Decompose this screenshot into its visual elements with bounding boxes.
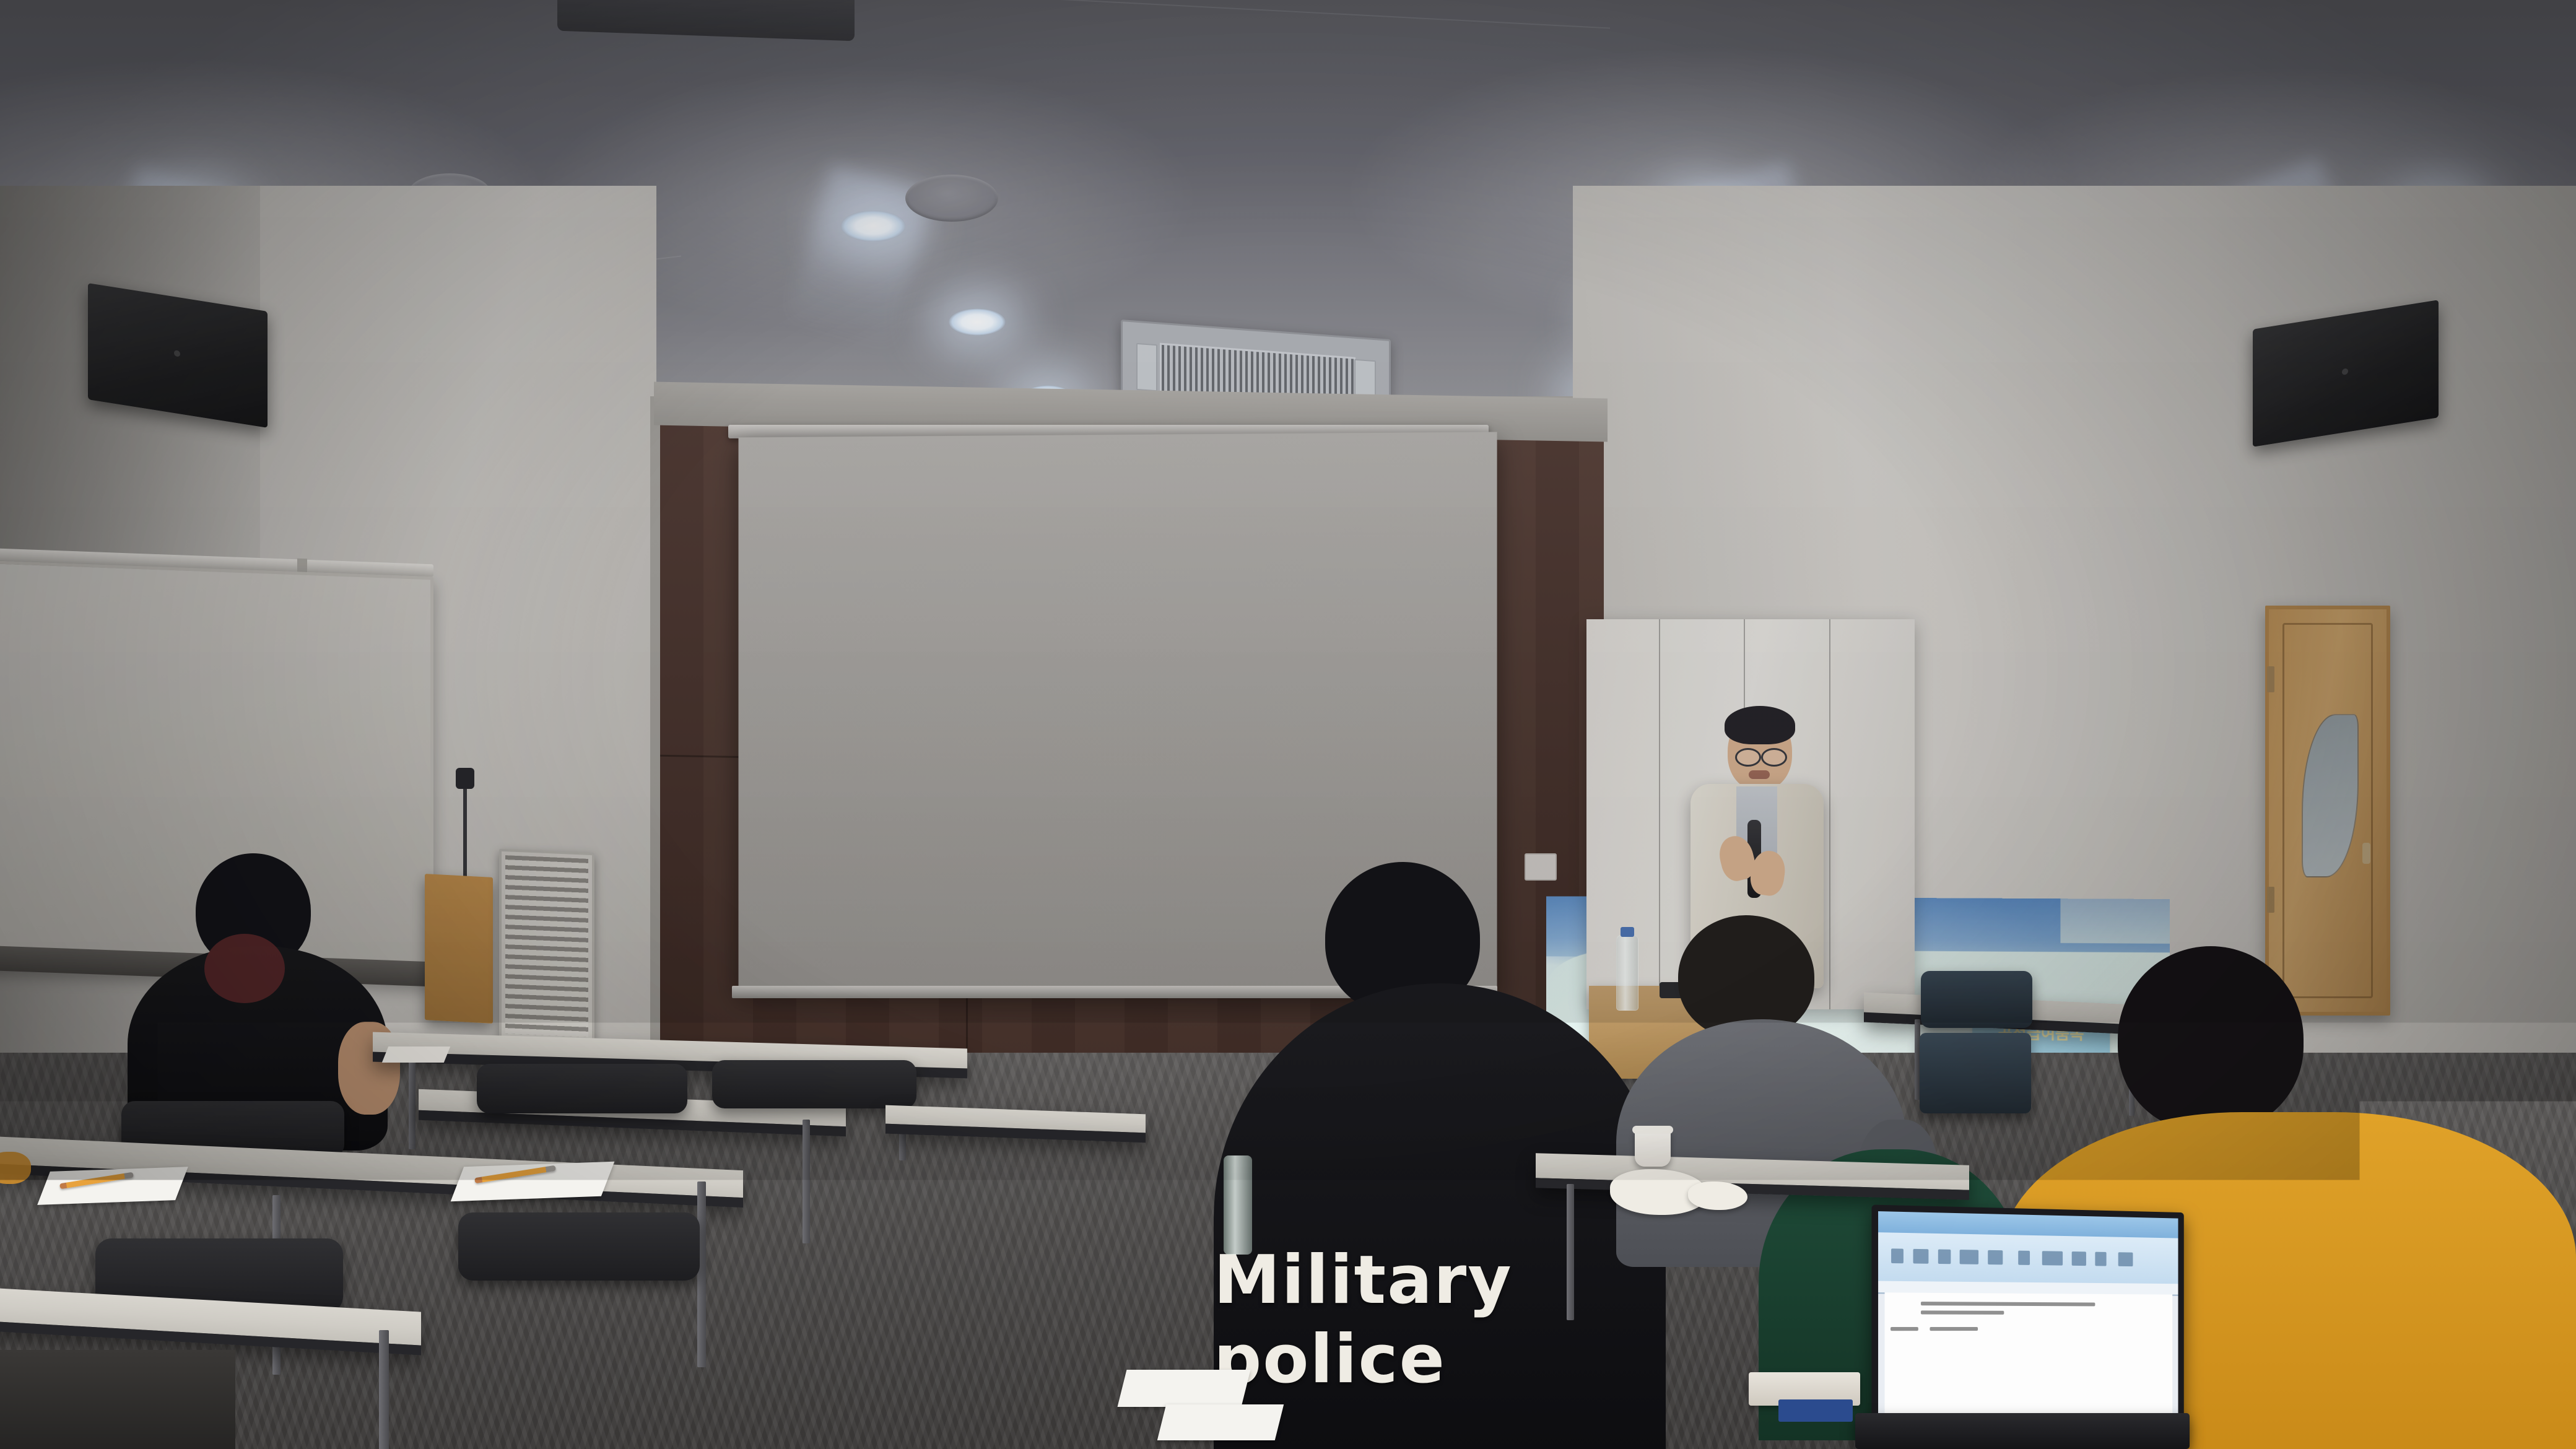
attendee-orange-head — [2118, 946, 2304, 1132]
ceiling-downlight — [949, 308, 1006, 336]
paper-cup[interactable] — [1635, 1129, 1671, 1167]
toolbar-icon — [2018, 1251, 2030, 1265]
presenter-glasses — [1735, 748, 1761, 767]
presenter-hair — [1725, 706, 1795, 744]
toolbar-icon — [1891, 1249, 1904, 1264]
laptop[interactable] — [1871, 1204, 2183, 1449]
toolbar-icon — [1913, 1249, 1928, 1264]
wall-vent-panel — [499, 849, 594, 1044]
laptop-keyboard-base[interactable] — [1855, 1413, 2190, 1449]
chair-row-1-mid[interactable] — [458, 1212, 700, 1281]
ac-vane — [1136, 343, 1157, 391]
slide-top-band-right — [2060, 899, 2170, 944]
document-text-line — [1891, 1327, 1918, 1331]
door-knob[interactable] — [2362, 843, 2370, 864]
bottle-cap — [1621, 927, 1634, 937]
laptop-toolbar-ribbon — [1878, 1232, 2178, 1284]
speaker-driver — [2342, 368, 2348, 376]
presenter-head — [1728, 712, 1792, 790]
document-text-line — [1930, 1327, 1978, 1331]
notebook[interactable] — [382, 1046, 451, 1063]
toolbar-icon — [1960, 1250, 1978, 1265]
podium — [425, 874, 493, 1024]
toolbar-icon — [1988, 1250, 2003, 1264]
cabinet-seam — [1659, 619, 1660, 1009]
vent-slats — [505, 855, 588, 1037]
room-door[interactable] — [2265, 606, 2390, 1016]
toolbar-icon — [2095, 1252, 2107, 1266]
document-text-line — [1921, 1310, 2004, 1314]
chair-seat-back-right[interactable] — [1920, 1033, 2031, 1113]
cabinet-seam — [1829, 619, 1830, 1009]
foreground-shadow — [0, 1350, 235, 1449]
chair-row-2-right[interactable] — [712, 1060, 916, 1108]
chair-back-right[interactable] — [1921, 971, 2032, 1028]
water-bottle-front[interactable] — [1224, 1155, 1252, 1255]
attendee-left-collar — [204, 934, 285, 1003]
speaker-driver — [174, 350, 180, 358]
water-bottle[interactable] — [1616, 935, 1638, 1011]
toolbar-icon — [2042, 1251, 2063, 1266]
door-hinge — [2267, 666, 2274, 692]
table-leg — [803, 1120, 810, 1243]
document-text-line — [1921, 1302, 2095, 1306]
laptop-document-page — [1884, 1292, 2172, 1422]
lecture-hall-photo: H/W 장애인 보조기구 재활로봇 공적급여품목 일상생활품목 (비공적급여) — [0, 0, 2576, 1449]
blue-label-item[interactable] — [1778, 1399, 1853, 1422]
toolbar-icon — [2118, 1253, 2133, 1267]
cup-rim — [1632, 1126, 1673, 1134]
table-leg — [1567, 1184, 1574, 1320]
ceiling-diffuser — [905, 175, 998, 222]
presenter-glasses — [1761, 748, 1787, 767]
paper-sheet-bottom[interactable] — [1118, 1370, 1251, 1407]
table-leg — [379, 1330, 389, 1449]
microphone-head — [456, 768, 474, 789]
table-leg — [697, 1181, 706, 1367]
light-switch-plate[interactable] — [1525, 853, 1557, 881]
toolbar-icon — [1938, 1250, 1951, 1264]
presenter-mouth — [1749, 770, 1770, 779]
paper-sheet-bottom[interactable] — [1157, 1404, 1284, 1440]
laptop-screen — [1878, 1211, 2178, 1443]
chair-row-2-mid[interactable] — [477, 1064, 687, 1113]
toolbar-icon — [2071, 1251, 2086, 1266]
door-hinge — [2267, 887, 2274, 913]
ceiling-downlight — [841, 211, 905, 241]
table-leg — [409, 1056, 416, 1149]
